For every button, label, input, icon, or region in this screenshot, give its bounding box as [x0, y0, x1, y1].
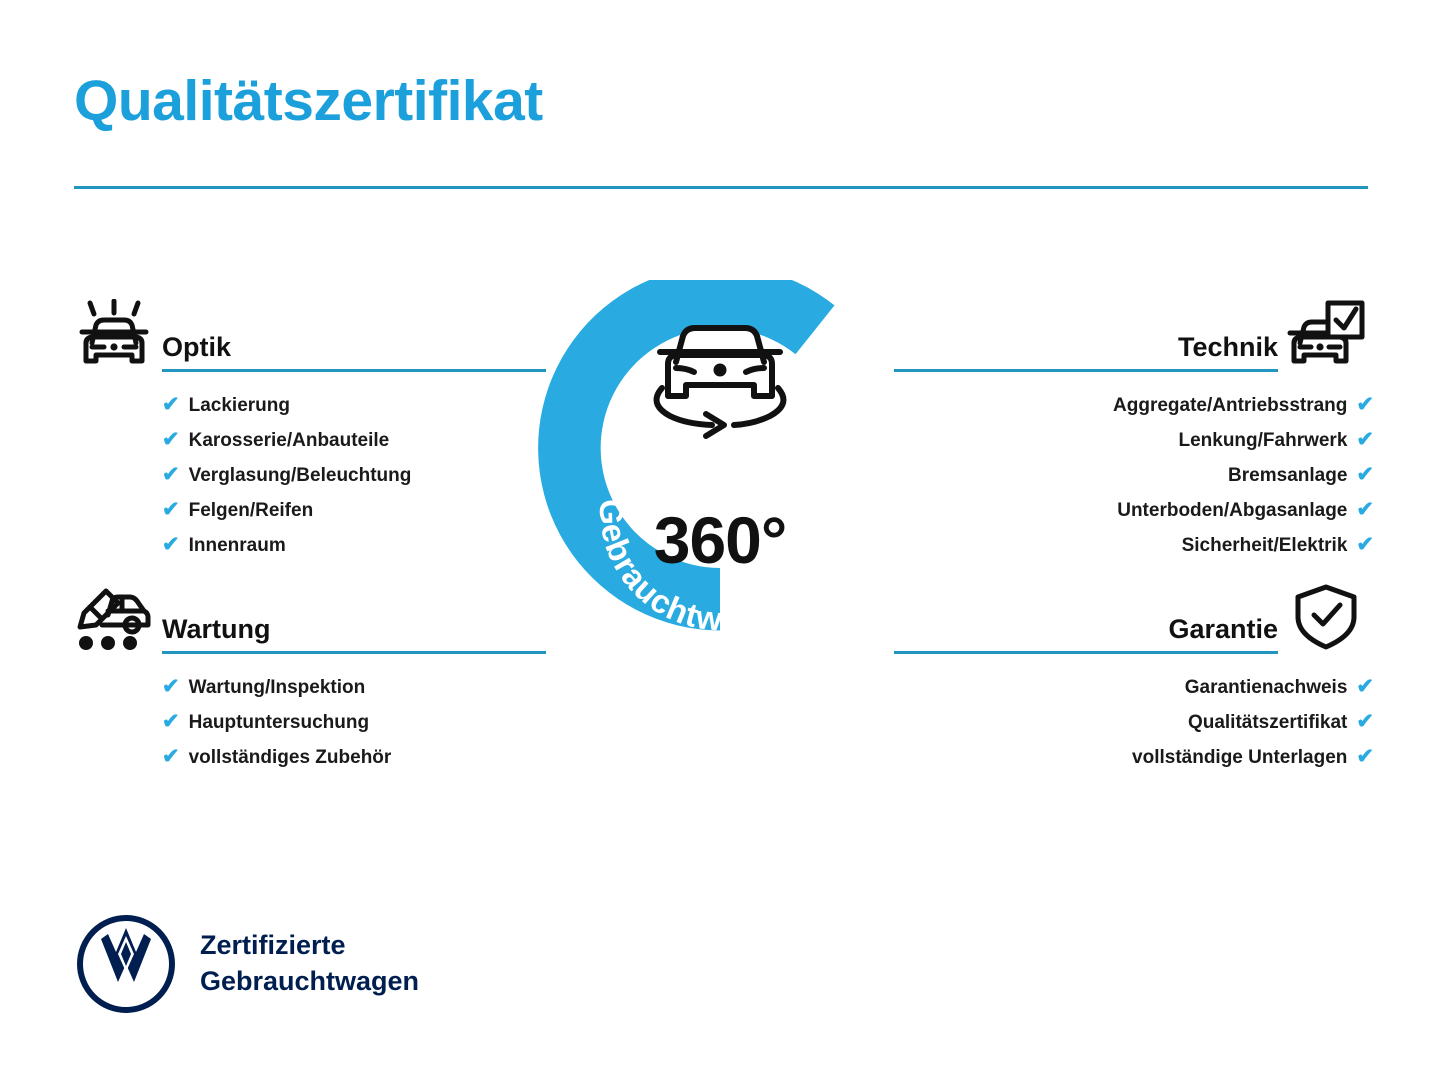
list-item-label: Garantienachweis — [1185, 671, 1348, 705]
list-item: ✔ vollständiges Zubehör — [162, 740, 546, 775]
check-icon: ✔ — [162, 458, 180, 492]
section-garantie: Garantie ✔ Garantienachweis ✔ Qualitätsz… — [894, 578, 1374, 775]
section-wartung-divider — [162, 651, 546, 654]
check-icon: ✔ — [1356, 493, 1374, 527]
list-item-label: Innenraum — [189, 529, 286, 563]
check-icon: ✔ — [162, 705, 180, 739]
list-item-label: Hauptuntersuchung — [189, 706, 370, 740]
check-icon: ✔ — [1356, 740, 1374, 774]
car-rotate-icon — [657, 328, 784, 436]
list-item: ✔ Felgen/Reifen — [162, 493, 546, 528]
footer-brand-text: Zertifizierte Gebrauchtwagen — [200, 928, 419, 999]
check-icon: ✔ — [1356, 528, 1374, 562]
check-icon: ✔ — [1356, 670, 1374, 704]
section-garantie-list: ✔ Garantienachweis ✔ Qualitätszertifikat… — [894, 670, 1374, 775]
section-garantie-titlewrap: Garantie — [894, 615, 1278, 656]
list-item: ✔ Hauptuntersuchung — [162, 705, 546, 740]
list-item-label: Aggregate/Antriebsstrang — [1113, 389, 1347, 423]
section-garantie-title: Garantie — [894, 615, 1278, 651]
car-checkbox-icon — [1278, 296, 1374, 374]
list-item-label: Karosserie/Anbauteile — [189, 424, 390, 458]
list-item: ✔ vollständige Unterlagen — [894, 740, 1374, 775]
list-item: ✔ Innenraum — [162, 528, 546, 563]
list-item-label: Sicherheit/Elektrik — [1182, 529, 1348, 563]
check-icon: ✔ — [1356, 458, 1374, 492]
footer-line-1: Zertifizierte — [200, 928, 419, 964]
list-item-label: Bremsanlage — [1228, 459, 1347, 493]
list-item-label: Lackierung — [189, 389, 290, 423]
car-polish-icon — [66, 296, 162, 374]
check-icon: ✔ — [162, 388, 180, 422]
list-item-label: Unterboden/Abgasanlage — [1117, 494, 1347, 528]
section-wartung: Wartung ✔ Wartung/Inspektion ✔ Hauptunte… — [66, 578, 546, 775]
car-service-pencil-icon — [66, 578, 162, 656]
list-item: ✔ Bremsanlage — [894, 458, 1374, 493]
section-wartung-header: Wartung — [66, 578, 546, 656]
footer-brand: Zertifizierte Gebrauchtwagen — [74, 912, 419, 1016]
section-technik-title: Technik — [894, 333, 1278, 369]
section-technik-divider — [894, 369, 1278, 372]
list-item-label: Wartung/Inspektion — [189, 671, 366, 705]
list-item: ✔ Wartung/Inspektion — [162, 670, 546, 705]
section-optik-header: Optik — [66, 296, 546, 374]
list-item: ✔ Verglasung/Beleuchtung — [162, 458, 546, 493]
check-icon: ✔ — [1356, 423, 1374, 457]
list-item-label: Qualitätszertifikat — [1188, 706, 1347, 740]
section-technik: Technik ✔ Aggregate/Antriebsstrang ✔ Len… — [894, 296, 1374, 563]
section-garantie-header: Garantie — [894, 578, 1374, 656]
list-item: ✔ Qualitätszertifikat — [894, 705, 1374, 740]
section-wartung-titlewrap: Wartung — [162, 615, 546, 656]
list-item-label: vollständiges Zubehör — [189, 741, 392, 775]
volkswagen-logo — [74, 912, 178, 1016]
page-title: Qualitätszertifikat — [74, 72, 543, 132]
check-icon: ✔ — [162, 740, 180, 774]
check-icon: ✔ — [162, 670, 180, 704]
list-item: ✔ Garantienachweis — [894, 670, 1374, 705]
section-technik-header: Technik — [894, 296, 1374, 374]
section-optik-divider — [162, 369, 546, 372]
section-optik-title: Optik — [162, 333, 546, 369]
badge-degrees-text: 360° — [524, 502, 916, 578]
list-item: ✔ Karosserie/Anbauteile — [162, 423, 546, 458]
list-item: ✔ Lackierung — [162, 388, 546, 423]
shield-check-icon — [1278, 578, 1374, 656]
section-technik-titlewrap: Technik — [894, 333, 1278, 374]
list-item: ✔ Sicherheit/Elektrik — [894, 528, 1374, 563]
section-wartung-title: Wartung — [162, 615, 546, 651]
section-optik-titlewrap: Optik — [162, 333, 546, 374]
badge-360-gebrauchtwagen-check: Gebrauchtwagen-Check 360° — [524, 280, 916, 700]
section-wartung-list: ✔ Wartung/Inspektion ✔ Hauptuntersuchung… — [162, 670, 546, 775]
check-icon: ✔ — [1356, 705, 1374, 739]
section-optik: Optik ✔ Lackierung ✔ Karosserie/Anbautei… — [66, 296, 546, 563]
section-technik-list: ✔ Aggregate/Antriebsstrang ✔ Lenkung/Fah… — [894, 388, 1374, 563]
check-icon: ✔ — [162, 423, 180, 457]
list-item: ✔ Aggregate/Antriebsstrang — [894, 388, 1374, 423]
check-icon: ✔ — [162, 493, 180, 527]
list-item: ✔ Lenkung/Fahrwerk — [894, 423, 1374, 458]
header-divider — [74, 186, 1368, 189]
list-item-label: Lenkung/Fahrwerk — [1178, 424, 1347, 458]
list-item: ✔ Unterboden/Abgasanlage — [894, 493, 1374, 528]
section-garantie-divider — [894, 651, 1278, 654]
check-icon: ✔ — [162, 528, 180, 562]
list-item-label: Verglasung/Beleuchtung — [189, 459, 412, 493]
list-item-label: vollständige Unterlagen — [1132, 741, 1347, 775]
check-icon: ✔ — [1356, 388, 1374, 422]
section-optik-list: ✔ Lackierung ✔ Karosserie/Anbauteile ✔ V… — [162, 388, 546, 563]
list-item-label: Felgen/Reifen — [189, 494, 314, 528]
footer-line-2: Gebrauchtwagen — [200, 964, 419, 1000]
